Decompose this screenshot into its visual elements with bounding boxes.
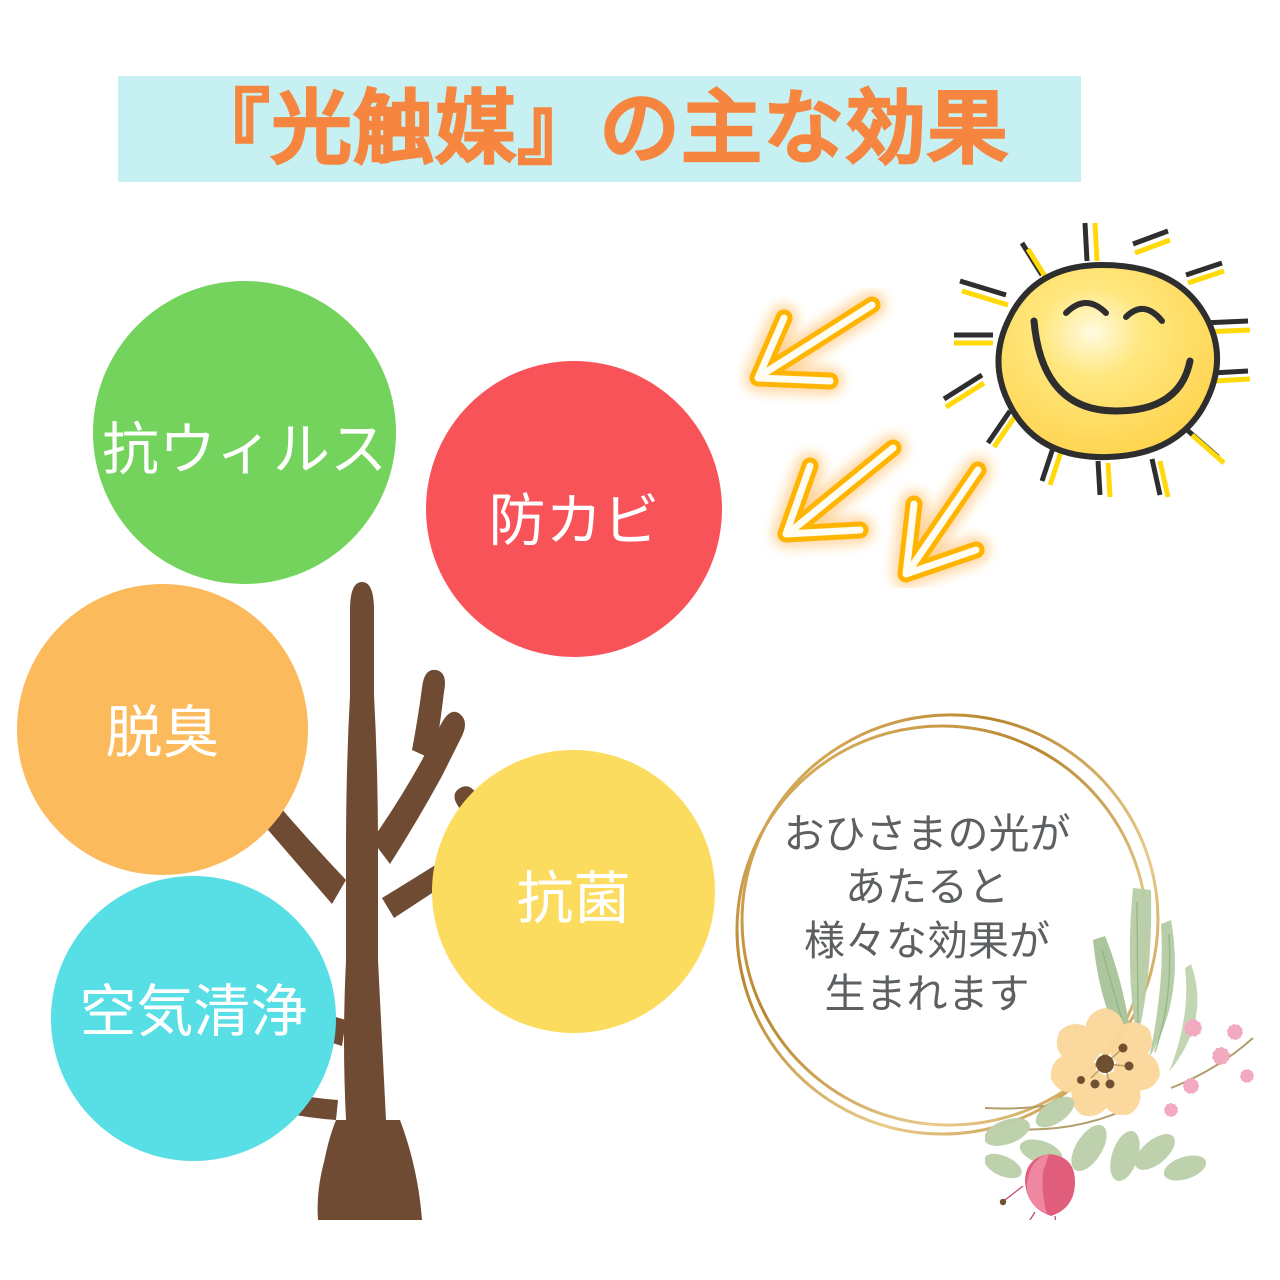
effect-bubble-air-purification[interactable]: 空気清浄: [51, 876, 336, 1161]
caption-line: おひさまの光が: [742, 808, 1112, 861]
effect-label: 抗ウィルス: [102, 422, 387, 479]
effect-label: 空気清浄: [80, 984, 308, 1041]
effect-label: 防カビ: [489, 493, 660, 550]
effect-bubble-deodorize[interactable]: 脱臭: [17, 584, 308, 875]
effect-label: 抗菌: [517, 871, 631, 928]
glowing-down-left-arrow-icon: [738, 288, 1028, 588]
effect-bubble-anti-virus[interactable]: 抗ウィルス: [93, 281, 396, 584]
effect-bubble-anti-mold[interactable]: 防カビ: [426, 361, 722, 657]
effect-bubble-antibacterial[interactable]: 抗菌: [432, 750, 715, 1033]
page-title: 『光触媒』の主な効果: [118, 76, 1081, 182]
infographic-canvas: 『光触媒』の主な効果: [0, 0, 1280, 1280]
watercolor-floral-bouquet-icon: [985, 880, 1275, 1220]
effect-label: 脱臭: [106, 705, 220, 762]
